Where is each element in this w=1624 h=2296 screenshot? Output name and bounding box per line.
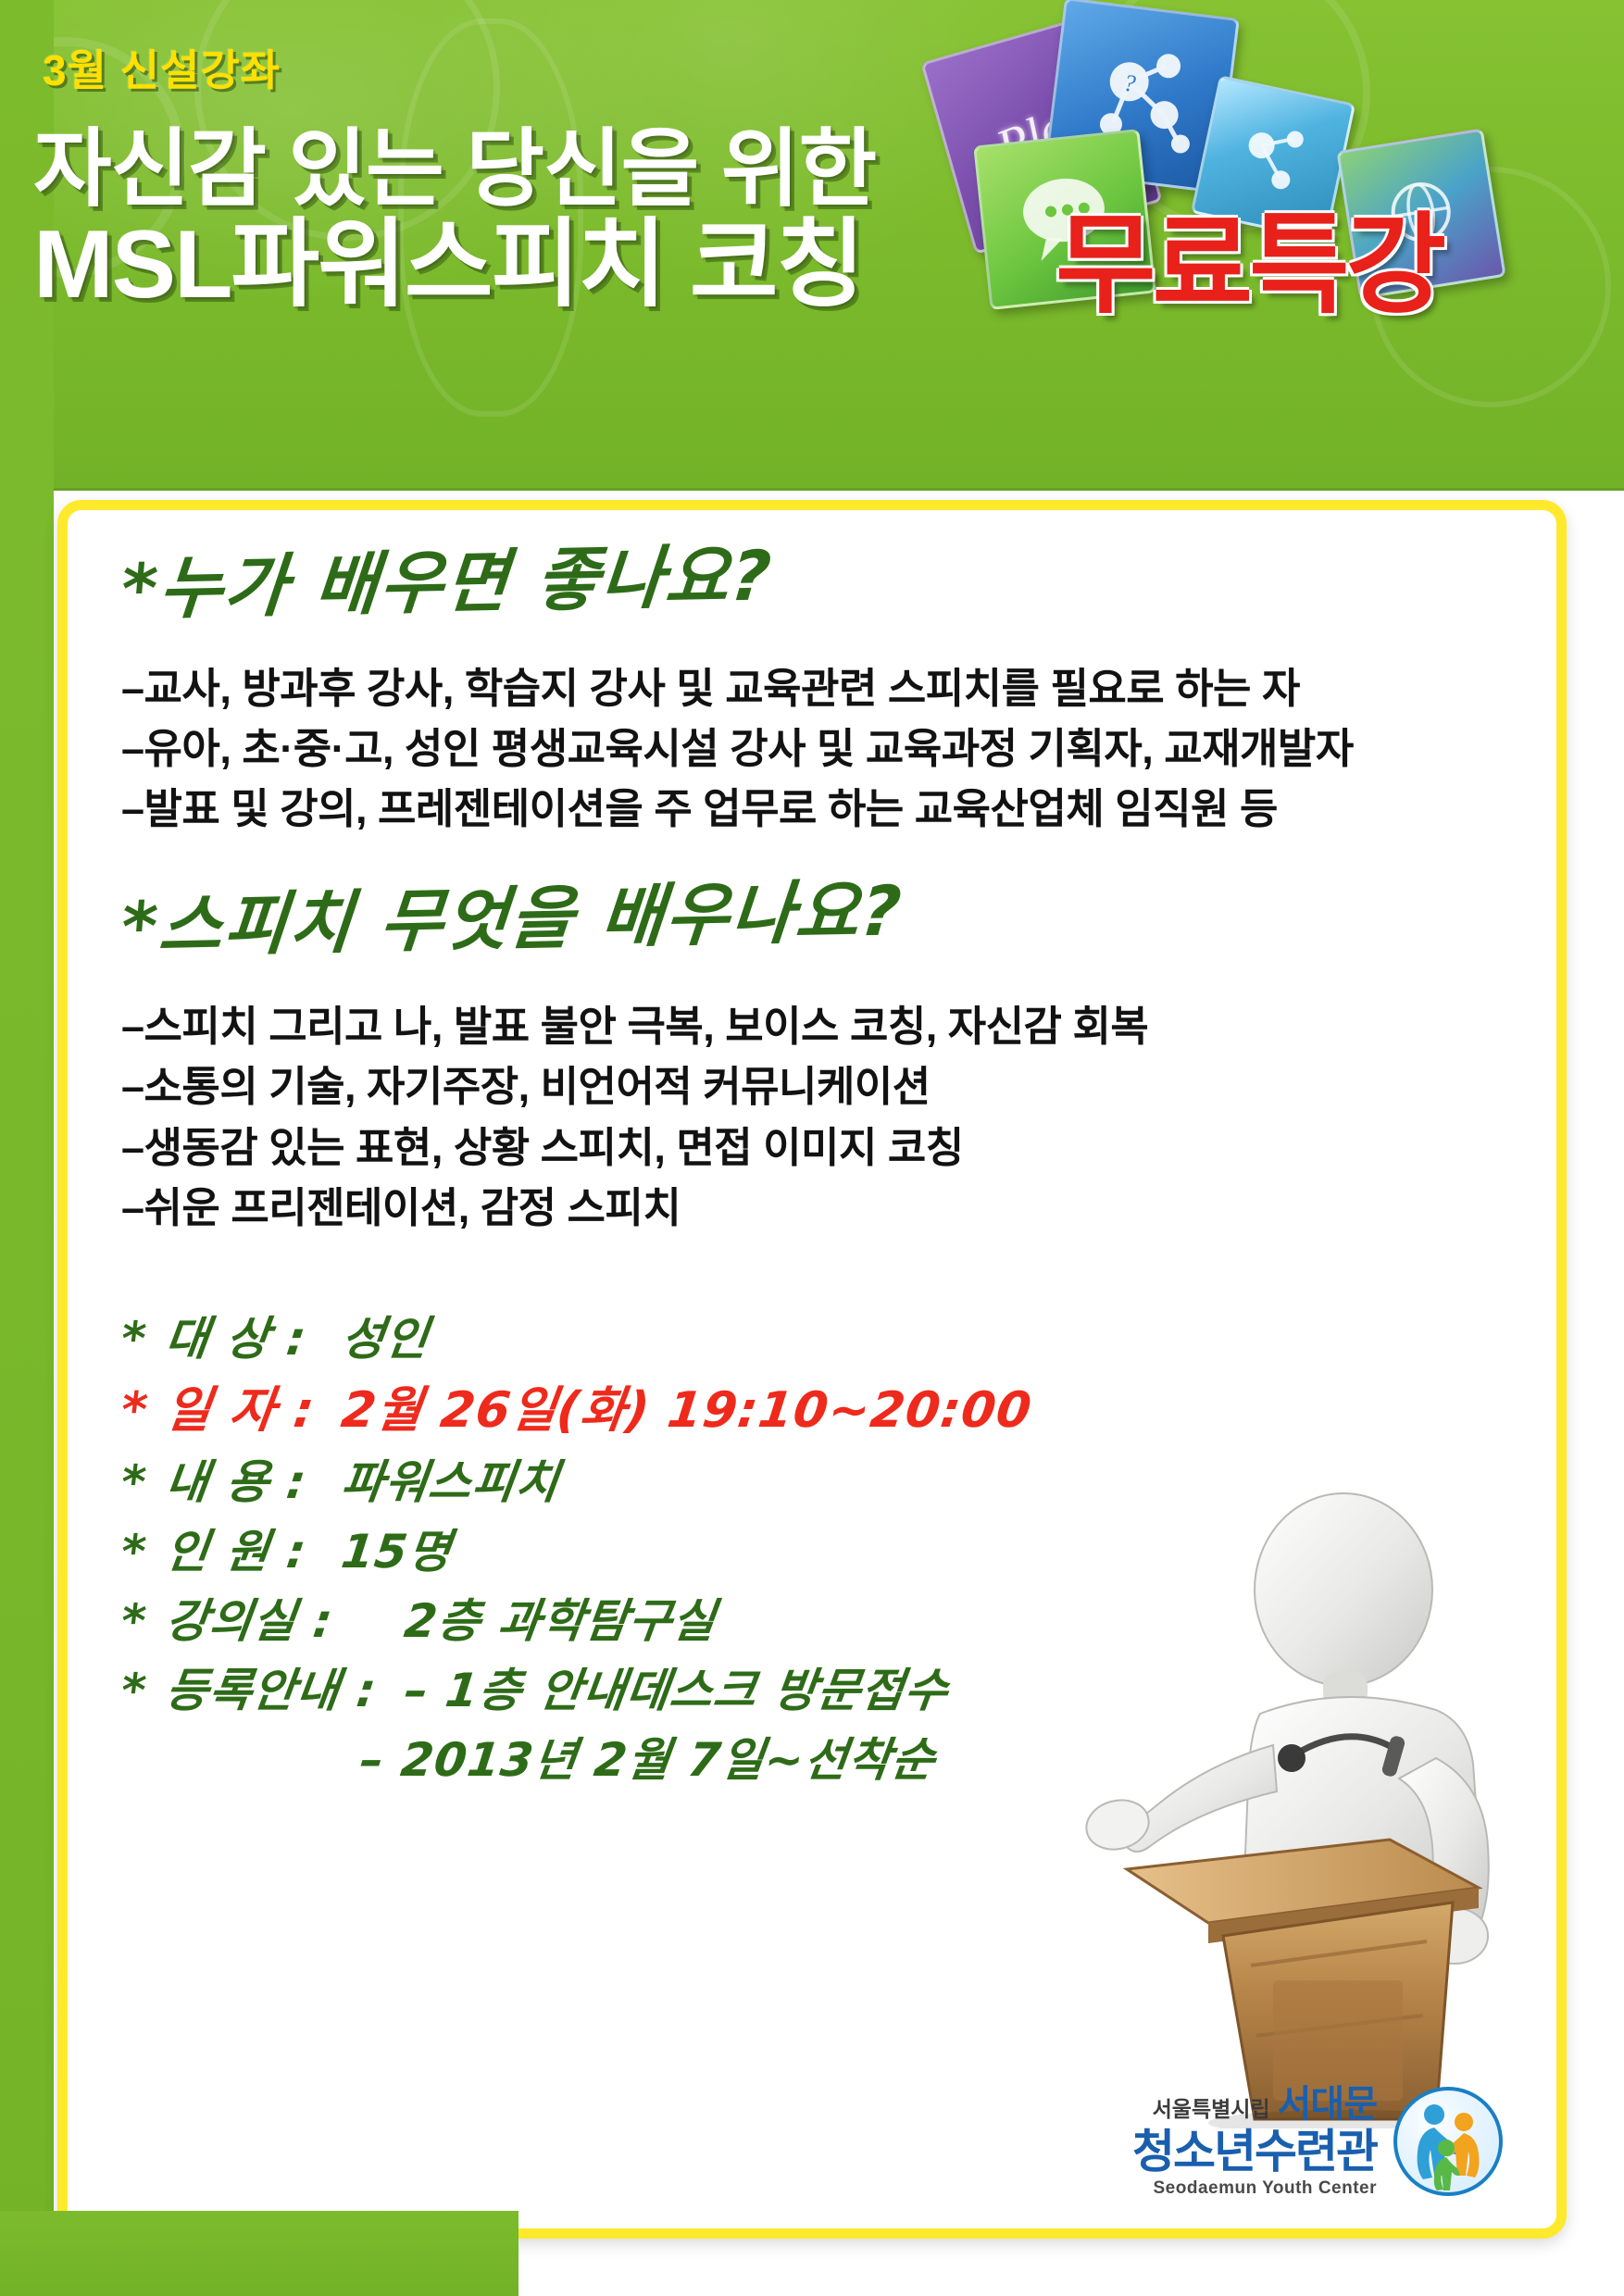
left-green-strip [0,0,54,2296]
logo-name-main: 청소년수련관 [1132,2128,1377,2175]
detail-value: 15명 [337,1517,456,1587]
content-card: *누가 배우면 좋나요? –교사, 방과후 강사, 학습지 강사 및 교육관련 … [57,500,1567,2239]
detail-row-registration: * 등록안내 : – 1층 안내데스크 방문접수 [117,1656,1506,1726]
detail-value: 성인 [337,1304,432,1374]
detail-label: 내 용 : [161,1448,345,1517]
bullet-item: –유아, 초·중·고, 성인 평생교육시설 강사 및 교육과정 기획자, 교재개… [121,718,1503,779]
section-who: *누가 배우면 좋나요? –교사, 방과후 강사, 학습지 강사 및 교육관련 … [121,555,1503,839]
section-heading-what: *스피치 무엇을 배우나요? [119,864,1508,965]
free-lecture-badge: 무료특강 [1056,176,1443,334]
detail-label: 강의실 : [161,1587,408,1656]
bullet-item: –생동감 있는 표현, 상황 스피치, 면접 이미지 코칭 [121,1117,1503,1178]
detail-label: 인 원 : [161,1517,345,1587]
logo-prefix: 서울특별시립 [1153,2099,1270,2120]
detail-value: 파워스피치 [337,1448,563,1517]
bottom-green-strip [0,2211,518,2296]
logo-text-block: 서울특별시립서대문 청소년수련관 Seodaemun Youth Center [1132,2086,1377,2197]
detail-row-room: * 강의실 : 2층 과학탐구실 [117,1587,1506,1656]
logo-top-row: 서울특별시립서대문 [1132,2086,1377,2123]
logo-name-top: 서대문 [1278,2086,1377,2123]
bullet-item: –쉬운 프리젠테이션, 감정 스피치 [121,1178,1503,1238]
logo-name-english: Seodaemun Youth Center [1132,2179,1377,2197]
eyebrow-label: 3월 신설강좌 [43,37,281,98]
poster-title-line-2: MSL파워스피치 코칭 [33,185,863,325]
youth-figure-emblem-icon [1393,2087,1503,2196]
course-details-list: * 대 상 : 성인 * 일 자 : 2월 26일(화) 19:10~20:00… [121,1304,1503,1795]
poster-root: Play ? [0,0,1624,2296]
detail-label: 등록안내 : [161,1656,408,1726]
organization-logo: 서울특별시립서대문 청소년수련관 Seodaemun Youth Center [1132,2086,1503,2197]
detail-row-date: * 일 자 : 2월 26일(화) 19:10~20:00 [117,1374,1507,1448]
detail-row-target: * 대 상 : 성인 [117,1304,1506,1374]
bullet-item: –소통의 기술, 자기주장, 비언어적 커뮤니케이션 [121,1056,1503,1117]
detail-label: 일 자 : [161,1374,346,1448]
detail-value: 2층 과학탐구실 [400,1587,719,1656]
bullet-list-what: –스피치 그리고 나, 발표 불안 극복, 보이스 코칭, 자신감 회복 –소통… [121,996,1503,1238]
detail-value: – 2013년 2월 7일~선착순 [356,1726,939,1795]
bullet-list-who: –교사, 방과후 강사, 학습지 강사 및 교육관련 스피치를 필요로 하는 자… [121,658,1503,840]
detail-value: – 1층 안내데스크 방문접수 [400,1656,952,1726]
detail-row-content: * 내 용 : 파워스피치 [117,1448,1506,1517]
section-what: *스피치 무엇을 배우나요? –스피치 그리고 나, 발표 불안 극복, 보이스… [121,892,1503,1238]
detail-row-registration-period: – 2013년 2월 7일~선착순 [117,1726,1506,1795]
section-heading-who: *누가 배우면 좋나요? [119,526,1508,627]
bullet-item: –스피치 그리고 나, 발표 불안 극복, 보이스 코칭, 자신감 회복 [121,996,1503,1056]
bullet-item: –교사, 방과후 강사, 학습지 강사 및 교육관련 스피치를 필요로 하는 자 [121,658,1503,718]
detail-label: 대 상 : [161,1304,345,1374]
detail-row-capacity: * 인 원 : 15명 [117,1517,1506,1587]
bullet-item: –발표 및 강의, 프레젠테이션을 주 업무로 하는 교육산업체 임직원 등 [121,779,1503,839]
detail-value: 2월 26일(화) 19:10~20:00 [337,1374,1036,1448]
